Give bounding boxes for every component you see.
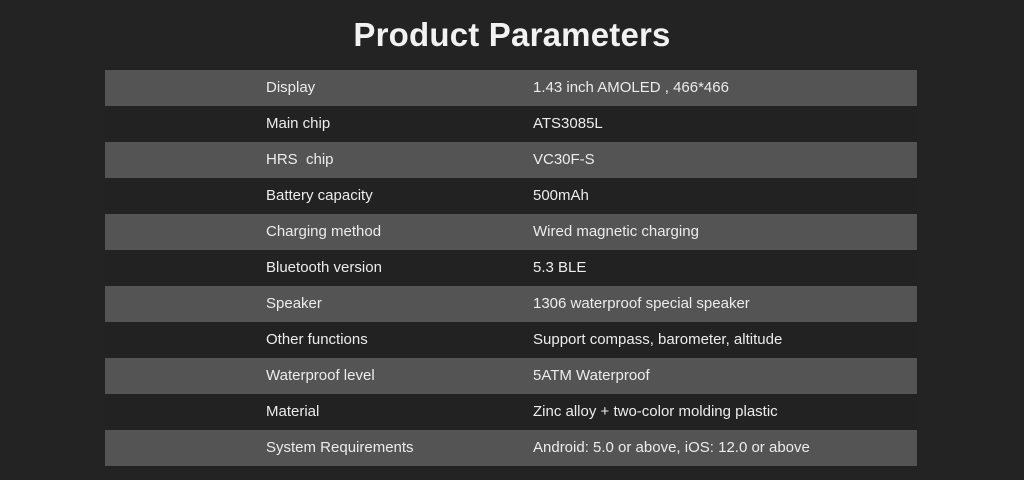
product-parameters-page: Product Parameters Display1.43 inch AMOL… <box>0 0 1024 480</box>
spec-value: ATS3085L <box>533 106 917 142</box>
spec-label: Battery capacity <box>105 178 533 214</box>
table-row: Speaker1306 waterproof special speaker <box>105 286 917 322</box>
spec-label: Waterproof level <box>105 358 533 394</box>
spec-value: 5.3 BLE <box>533 250 917 286</box>
spec-value: Wired magnetic charging <box>533 214 917 250</box>
spec-value: 1.43 inch AMOLED , 466*466 <box>533 70 917 106</box>
spec-label: System Requirements <box>105 430 533 466</box>
table-row: Main chipATS3085L <box>105 106 917 142</box>
spec-label: Charging method <box>105 214 533 250</box>
spec-value: Android: 5.0 or above, iOS: 12.0 or abov… <box>533 430 917 466</box>
table-row: Bluetooth version5.3 BLE <box>105 250 917 286</box>
spec-value: Support compass, barometer, altitude <box>533 322 917 358</box>
spec-value: VC30F-S <box>533 142 917 178</box>
table-row: MaterialZinc alloy + two-color molding p… <box>105 394 917 430</box>
spec-label: Bluetooth version <box>105 250 533 286</box>
table-row: System RequirementsAndroid: 5.0 or above… <box>105 430 917 466</box>
spec-label: Material <box>105 394 533 430</box>
spec-label: Other functions <box>105 322 533 358</box>
table-row: Charging methodWired magnetic charging <box>105 214 917 250</box>
spec-value: Zinc alloy + two-color molding plastic <box>533 394 917 430</box>
table-row: HRS chipVC30F-S <box>105 142 917 178</box>
spec-value: 1306 waterproof special speaker <box>533 286 917 322</box>
page-title: Product Parameters <box>0 14 1024 56</box>
spec-label: Speaker <box>105 286 533 322</box>
spec-label: Main chip <box>105 106 533 142</box>
spec-value: 5ATM Waterproof <box>533 358 917 394</box>
table-row: Battery capacity500mAh <box>105 178 917 214</box>
table-row: Display1.43 inch AMOLED , 466*466 <box>105 70 917 106</box>
spec-label: HRS chip <box>105 142 533 178</box>
specification-table: Display1.43 inch AMOLED , 466*466Main ch… <box>105 70 917 466</box>
table-row: Waterproof level5ATM Waterproof <box>105 358 917 394</box>
table-row: Other functionsSupport compass, baromete… <box>105 322 917 358</box>
spec-label: Display <box>105 70 533 106</box>
spec-value: 500mAh <box>533 178 917 214</box>
